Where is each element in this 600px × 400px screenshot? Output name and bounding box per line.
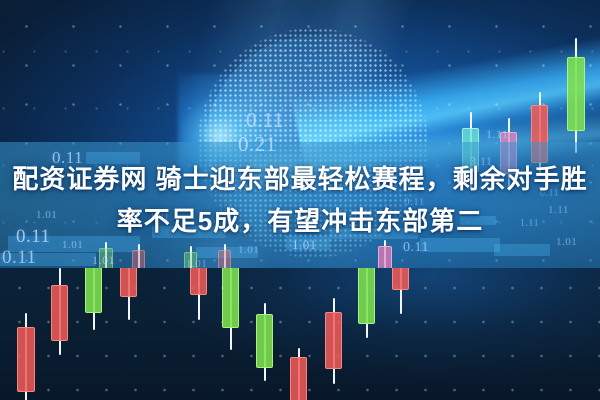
candle-body <box>17 327 35 392</box>
candle-red-5 <box>290 348 307 400</box>
candle-green-4 <box>256 303 273 381</box>
candlestick-group-main <box>0 268 600 400</box>
candle-body <box>256 314 273 368</box>
candlestick-panel <box>0 268 600 400</box>
candle-body <box>222 268 239 328</box>
candle-green-2 <box>85 268 102 330</box>
headline-line-2: 率不足5成，有望冲击东部第二 <box>0 200 600 242</box>
candle-body <box>85 268 102 313</box>
overlay-number: 0.11 <box>2 247 37 269</box>
news-banner-image: 0.111.010.110.111.011.011.011.010.110.21… <box>0 0 600 400</box>
candle-red-7 <box>392 268 409 314</box>
candle-red-4 <box>190 268 207 320</box>
candle-body <box>190 268 207 295</box>
headline: 配资证券网 骑士迎东部最轻松赛程，剩余对手胜 率不足5成，有望冲击东部第二 <box>0 158 600 242</box>
candle-body <box>120 268 137 297</box>
candle-green-5 <box>358 268 375 338</box>
candle-body <box>325 312 342 369</box>
candle-red-6 <box>325 298 342 384</box>
overlay-number: 0.11 <box>246 108 284 133</box>
candle-red-2 <box>51 268 68 355</box>
overlay-number: 0.11 <box>403 240 429 256</box>
overlay-number: 1.11 <box>486 127 509 142</box>
candle-body <box>290 357 307 400</box>
candle-green-3 <box>222 268 239 350</box>
overlay-number: 0.21 <box>238 132 277 157</box>
overlay-number: 1.01 <box>92 253 115 268</box>
candle-red-3 <box>120 268 137 320</box>
candle-body <box>358 268 375 324</box>
candle-body <box>392 268 409 290</box>
headline-line-1: 配资证券网 骑士迎东部最轻松赛程，剩余对手胜 <box>0 158 600 200</box>
overlay-number: 1.01 <box>238 244 259 256</box>
candle-body <box>51 285 68 341</box>
candle-red-1 <box>17 313 35 400</box>
